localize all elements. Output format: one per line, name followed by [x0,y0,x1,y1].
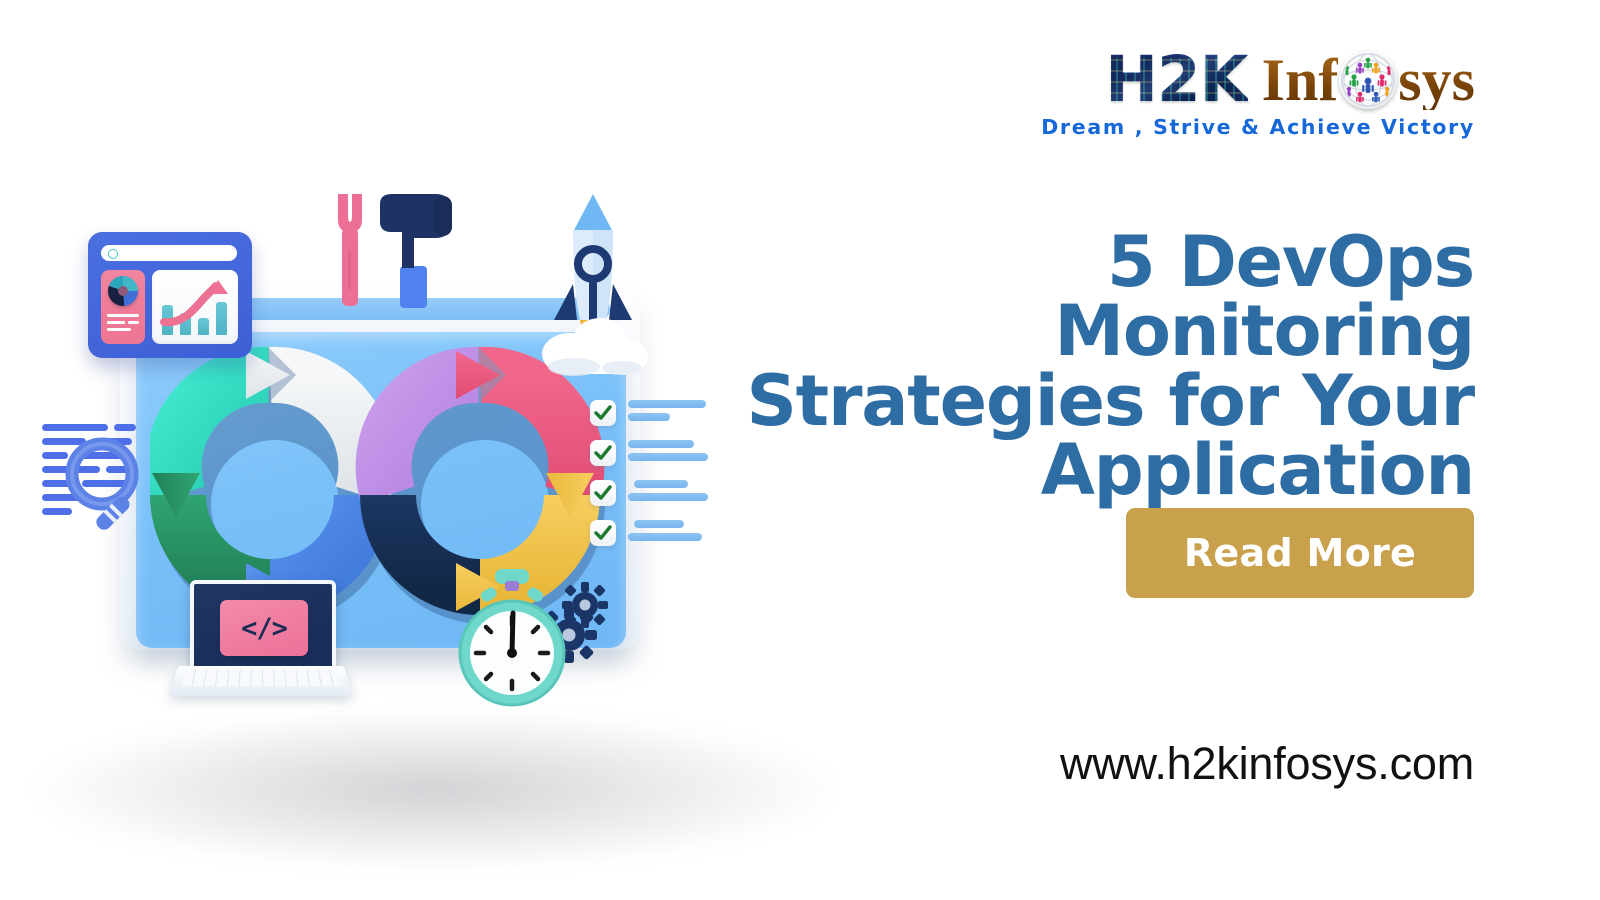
logo-sys-text: sys [1398,50,1475,110]
page-title: 5 DevOps Monitoring Strategies for Your … [674,228,1474,505]
stopwatch-icon [455,565,625,715]
hammer-icon [380,194,452,308]
check-icon[interactable] [590,520,616,546]
donut-chart-icon [108,276,138,306]
panel-text-line [128,321,139,324]
cloud-icon [534,310,652,385]
search-icon [108,249,118,259]
dashboard-card[interactable] [88,232,252,358]
tools-group [318,180,498,320]
check-icon[interactable] [590,440,616,466]
logo-inf-text: Inf [1262,50,1339,110]
globe-people-icon [1339,51,1397,109]
headline-line-2: Strategies for Your [674,367,1474,436]
check-icon[interactable] [590,480,616,506]
dashboard-search-bar[interactable] [101,245,237,261]
brand-tagline: Dream , Strive & Achieve Victory [1041,115,1475,139]
list-item [634,520,684,528]
logo-wordmark: H2K Inf [1041,48,1475,111]
ground-shadow [35,710,835,870]
list-item [628,533,702,541]
wrench-icon [338,194,362,306]
laptop-keyboard [169,666,352,696]
panel-text-line [107,321,125,324]
dashboard-side-panel [101,270,145,344]
trend-arrow-icon [158,278,234,330]
website-url[interactable]: www.h2kinfosys.com [1060,738,1474,790]
code-glyph: </> [220,600,308,656]
panel-text-line [107,328,131,331]
promo-banner: H2K Inf [0,0,1600,900]
magnifier-icon [40,412,230,542]
laptop-code-icon: </> [178,580,348,705]
logo-h2k-text: H2K [1105,48,1247,111]
laptop-screen: </> [190,580,336,674]
headline-line-3: Application [674,436,1474,505]
headline-line-1: 5 DevOps Monitoring [674,228,1474,367]
devops-monitoring-illustration: </> [0,150,760,750]
brand-logo[interactable]: H2K Inf [1041,48,1475,139]
dashboard-chart-panel [152,270,238,344]
check-icon[interactable] [590,400,616,426]
stopwatch-body [460,569,564,705]
list-item [628,413,670,421]
read-more-button[interactable]: Read More [1126,508,1474,598]
panel-text-line [107,314,139,317]
